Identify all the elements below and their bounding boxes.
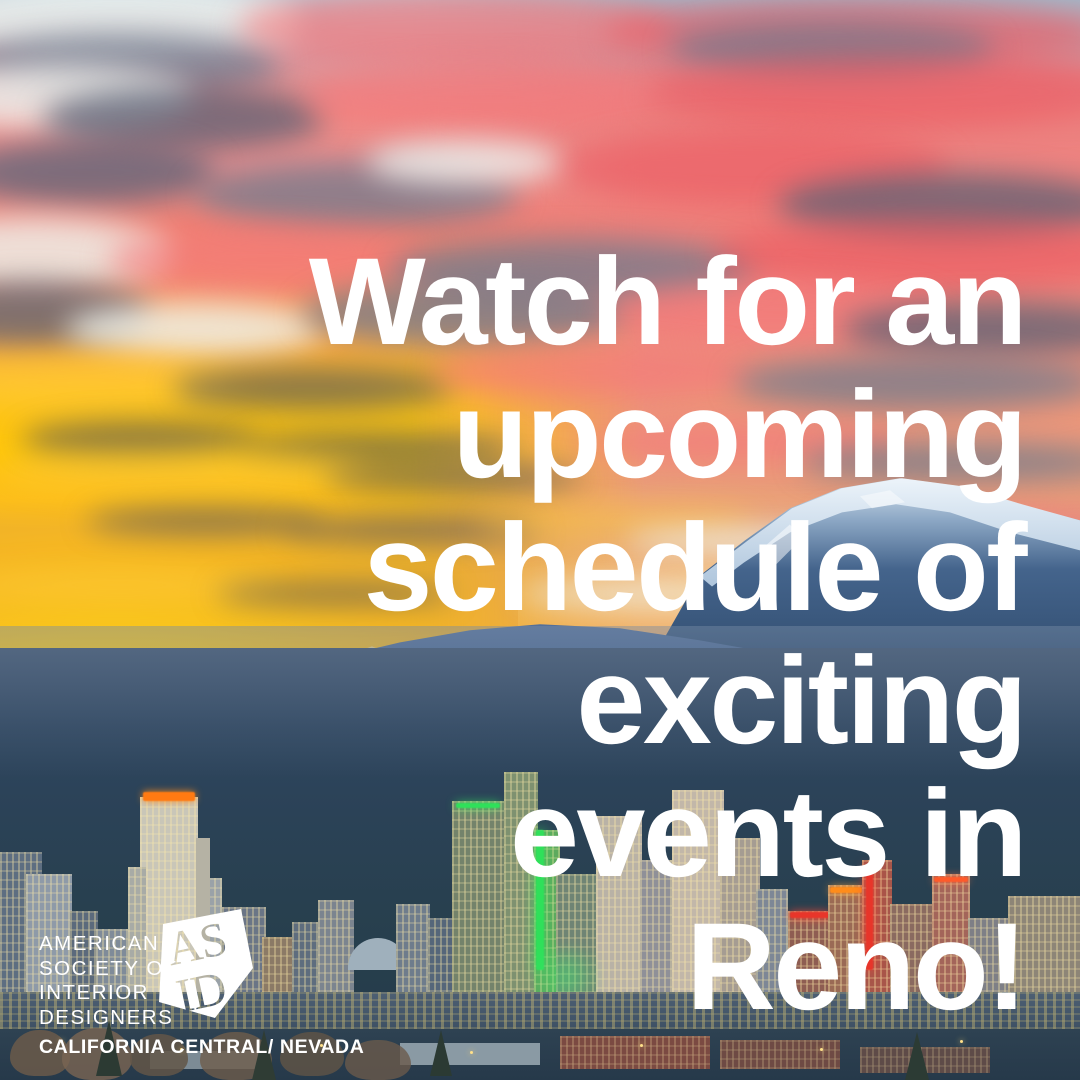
asid-logo-lockup: AMERICAN SOCIETY OF INTERIOR DESIGNERS A…	[33, 906, 313, 1056]
headline-line-3: schedule of	[235, 502, 1025, 635]
conifer-tree	[430, 1030, 452, 1076]
headline-line-1: Watch for an	[235, 236, 1025, 369]
headline: Watch for an upcoming schedule of exciti…	[235, 236, 1025, 1034]
headline-line-6: Reno!	[235, 901, 1025, 1034]
street-light	[820, 1048, 823, 1051]
headline-line-2: upcoming	[235, 369, 1025, 502]
brick-building	[560, 1036, 710, 1069]
headline-line-4: exciting	[235, 635, 1025, 768]
asid-chapter-name: CALIFORNIA CENTRAL/ NEVADA	[39, 1036, 364, 1059]
street-light	[640, 1044, 643, 1047]
asid-monogram-mark: AS ID	[157, 906, 257, 1022]
conifer-tree	[905, 1032, 929, 1080]
social-graphic-canvas: Watch for an upcoming schedule of exciti…	[0, 0, 1080, 1080]
brick-building	[720, 1040, 840, 1069]
white-building	[400, 1043, 540, 1065]
neon-sign	[143, 792, 195, 801]
headline-line-5: events in	[235, 768, 1025, 901]
